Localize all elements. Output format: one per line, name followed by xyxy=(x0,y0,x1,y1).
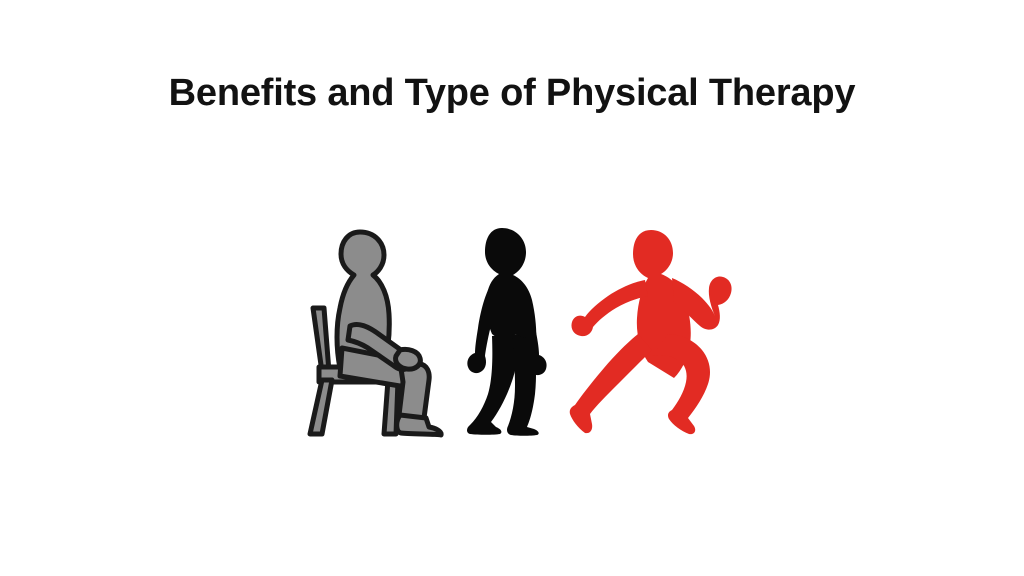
person-running-icon xyxy=(568,222,740,440)
page-title: Benefits and Type of Physical Therapy xyxy=(0,70,1024,116)
person-sitting-on-chair-icon xyxy=(296,222,444,440)
figures-group xyxy=(296,222,740,440)
illustration-canvas: Benefits and Type of Physical Therapy xyxy=(0,0,1024,576)
person-walking-icon xyxy=(456,222,560,440)
